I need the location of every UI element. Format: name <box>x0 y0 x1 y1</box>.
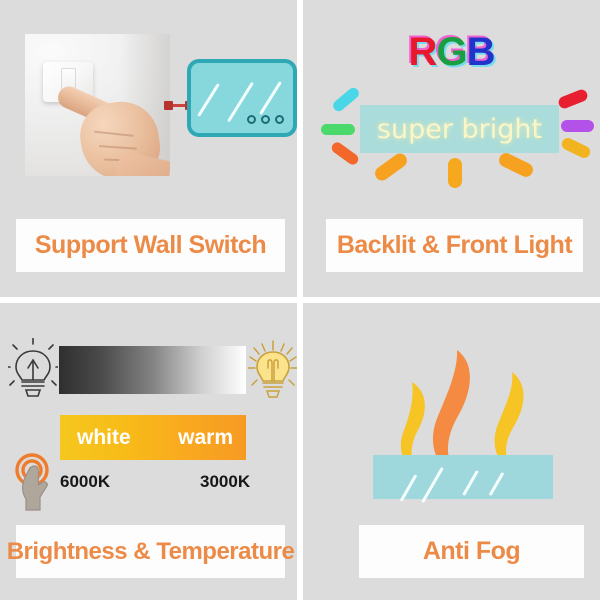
rgb-letter-b: B <box>467 30 495 74</box>
rgb-logo: RGB <box>303 32 600 72</box>
sparkle-green <box>321 124 355 135</box>
water-surface <box>373 455 553 499</box>
temp-label-warm: warm <box>178 426 233 450</box>
rgb-letter-r: R <box>409 30 437 74</box>
super-bright-text: super bright <box>377 114 542 145</box>
bulb-yellow-icon <box>248 334 298 404</box>
touch-hand-icon[interactable] <box>12 452 64 514</box>
caption-brightness-temperature: Brightness & Temperature <box>16 525 285 578</box>
sparkle-orange-left <box>372 151 409 183</box>
sparkle-orange-center <box>448 158 462 188</box>
kelvin-value-left: 6000K <box>60 472 110 492</box>
mirror-touch-buttons[interactable] <box>247 115 284 124</box>
caption-support-wall-switch: Support Wall Switch <box>16 219 285 272</box>
sparkle-orange-right <box>497 151 535 179</box>
caption-anti-fog: Anti Fog <box>359 525 584 578</box>
sparkle-purple <box>561 120 594 132</box>
mirror-button-3[interactable] <box>275 115 284 124</box>
rgb-letter-g: G <box>436 30 466 74</box>
poster-root: Support Wall Switch RGB super bright Bac… <box>0 0 600 600</box>
sparkle-cyan <box>331 86 361 114</box>
caption-backlit-front-light: Backlit & Front Light <box>326 219 583 272</box>
bulb-outline-icon <box>8 338 58 404</box>
kelvin-value-right: 3000K <box>200 472 250 492</box>
mirror-button-2[interactable] <box>261 115 270 124</box>
connector-node-left <box>164 101 173 110</box>
mirror-panel-icon <box>187 59 297 137</box>
temperature-gradient-bar: white warm <box>60 415 246 460</box>
wrist <box>114 151 170 176</box>
wall-switch-photo <box>25 34 170 176</box>
brightness-gradient-bar <box>59 346 246 394</box>
divider-horizontal <box>0 297 600 303</box>
super-bright-band: super bright <box>360 105 559 153</box>
hand-icon <box>59 74 164 176</box>
temp-label-white: white <box>77 426 131 450</box>
sparkle-amber <box>560 136 592 160</box>
mirror-button-1[interactable] <box>247 115 256 124</box>
sparkle-orange <box>330 140 361 167</box>
sparkle-red <box>557 88 589 110</box>
